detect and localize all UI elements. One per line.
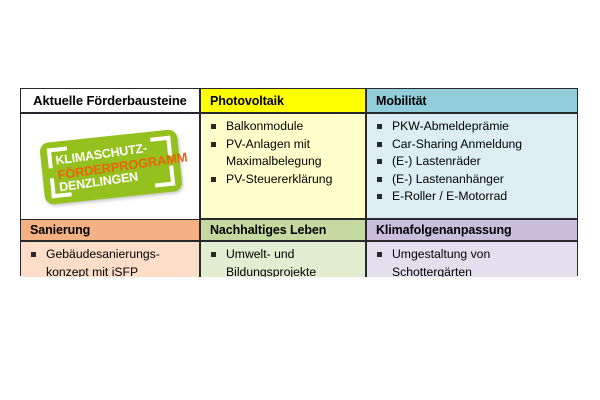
list-item: PV-Steuererklärung (208, 171, 359, 189)
section-body-klimafolgenanpassung: Umgestaltung von Schottergärten (366, 241, 577, 277)
section-body-nachhaltiges-leben: Umwelt- und Bildungsprojekte (200, 241, 366, 277)
bullet-square-icon (211, 177, 216, 182)
list-item-label: Car-Sharing Anmeldung (392, 137, 522, 151)
list-item-label: PV-Steuererklärung (226, 172, 332, 186)
section-header-klimafolgenanpassung: Klimafolgenanpassung (366, 219, 577, 241)
list-item-label: (E-) Lastenanhänger (392, 172, 504, 186)
list-item-label: Umgestaltung von Schottergärten (392, 247, 490, 277)
list-item-label: Umwelt- und Bildungsprojekte (226, 247, 316, 277)
bullet-square-icon (211, 124, 216, 129)
section-body-sanierung: Gebäudesanierungs-konzept mit iSFP (21, 241, 200, 277)
logo-cell: KLIMASCHUTZ- FÖRDERPROGRAMM DENZLINGEN (21, 113, 200, 219)
bullet-square-icon (377, 252, 382, 257)
list-item: (E-) Lastenräder (374, 153, 571, 171)
section-header-label: Photovoltaik (210, 94, 284, 108)
list-item: PKW-Abmeldeprämie (374, 118, 571, 136)
list-item: Umwelt- und Bildungsprojekte (208, 246, 359, 277)
section-header-photovoltaik: Photovoltaik (200, 89, 366, 113)
foerderbausteine-table: Aktuelle Förderbausteine Photovoltaik Mo… (20, 88, 578, 276)
mobilitaet-list: PKW-Abmeldeprämie Car-Sharing Anmeldung … (374, 118, 571, 206)
logo-text: KLIMASCHUTZ- FÖRDERPROGRAMM DENZLINGEN (54, 139, 171, 195)
section-header-nachhaltiges-leben: Nachhaltiges Leben (200, 219, 366, 241)
bullet-square-icon (377, 159, 382, 164)
list-item-label: (E-) Lastenräder (392, 154, 481, 168)
list-item: Umgestaltung von Schottergärten (374, 246, 571, 277)
list-item-label: Gebäudesanierungs-konzept mit iSFP (46, 247, 160, 277)
section-header-label: Mobilität (376, 94, 426, 108)
bullet-square-icon (211, 252, 216, 257)
section-body-mobilitaet: PKW-Abmeldeprämie Car-Sharing Anmeldung … (366, 113, 577, 219)
section-header-mobilitaet: Mobilität (366, 89, 577, 113)
list-item: E-Roller / E-Motorrad (374, 188, 571, 206)
section-body-photovoltaik: Balkonmodule PV-Anlagen mit Maximalbeleg… (200, 113, 366, 219)
klimafolgenanpassung-list: Umgestaltung von Schottergärten (374, 246, 571, 277)
list-item-label: PV-Anlagen mit Maximalbelegung (226, 137, 322, 169)
klimaschutz-foerderprogramm-logo: KLIMASCHUTZ- FÖRDERPROGRAMM DENZLINGEN (39, 128, 183, 204)
photovoltaik-list: Balkonmodule PV-Anlagen mit Maximalbeleg… (208, 118, 359, 188)
list-item: Gebäudesanierungs-konzept mit iSFP (28, 246, 193, 277)
table-title-cell: Aktuelle Förderbausteine (21, 89, 200, 113)
sanierung-list: Gebäudesanierungs-konzept mit iSFP (28, 246, 193, 277)
list-item: Car-Sharing Anmeldung (374, 136, 571, 154)
bullet-square-icon (31, 252, 36, 257)
list-item-label: E-Roller / E-Motorrad (392, 189, 507, 203)
bullet-square-icon (211, 142, 216, 147)
section-header-sanierung: Sanierung (21, 219, 200, 241)
bullet-square-icon (377, 194, 382, 199)
list-item: (E-) Lastenanhänger (374, 171, 571, 189)
list-item-label: Balkonmodule (226, 119, 303, 133)
bullet-square-icon (377, 124, 382, 129)
list-item-label: PKW-Abmeldeprämie (392, 119, 509, 133)
nachhaltiges-leben-list: Umwelt- und Bildungsprojekte (208, 246, 359, 277)
section-header-label: Nachhaltiges Leben (210, 223, 326, 237)
page-title: Aktuelle Förderbausteine (33, 93, 187, 108)
section-header-label: Klimafolgenanpassung (376, 223, 512, 237)
list-item: PV-Anlagen mit Maximalbelegung (208, 136, 359, 171)
bullet-square-icon (377, 177, 382, 182)
section-header-label: Sanierung (30, 223, 90, 237)
bullet-square-icon (377, 142, 382, 147)
list-item: Balkonmodule (208, 118, 359, 136)
